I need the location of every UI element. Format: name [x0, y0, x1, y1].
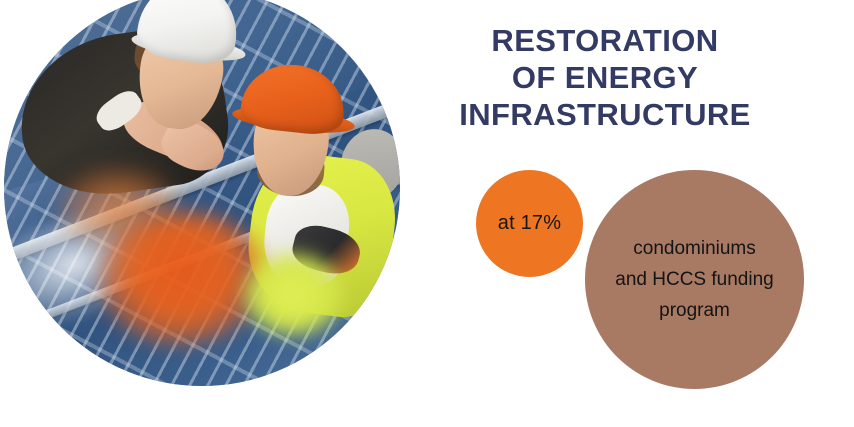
program-bubble-line-1: condominiums [615, 233, 773, 264]
program-bubble-line-2: and HCCS funding [615, 264, 773, 295]
program-bubble-line-3: program [615, 295, 773, 326]
solar-workers-photo [4, 0, 400, 386]
page-title-line-2: OF ENERGY [430, 59, 780, 96]
page-title-line-1: RESTORATION [430, 22, 780, 59]
percentage-bubble: at 17% [476, 170, 583, 277]
slide-canvas: RESTORATION OF ENERGY INFRASTRUCTURE at … [0, 0, 854, 427]
page-title-line-3: INFRASTRUCTURE [430, 96, 780, 133]
program-bubble: condominiums and HCCS funding program [585, 170, 804, 389]
program-bubble-label: condominiums and HCCS funding program [615, 233, 773, 326]
panel-reflection-yellow [242, 251, 345, 338]
page-title: RESTORATION OF ENERGY INFRASTRUCTURE [430, 22, 780, 133]
photo-background [4, 0, 400, 386]
percentage-bubble-label: at 17% [498, 212, 561, 235]
